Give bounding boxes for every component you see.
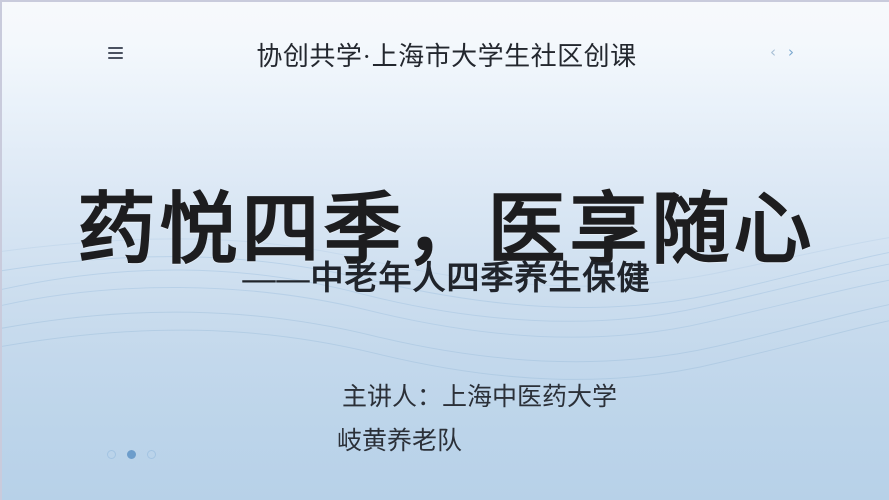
presenter-line-1: 主讲人：上海中医药大学: [342, 384, 617, 411]
chevron-left-icon[interactable]: ‹: [769, 45, 777, 60]
pagination-dots: [107, 450, 156, 459]
slide-top-bar: 协创共学·上海市大学生社区创课 ‹ ›: [2, 2, 889, 102]
pagination-dot-3[interactable]: [147, 450, 156, 459]
pagination-dot-2[interactable]: [127, 450, 136, 459]
chevron-right-icon[interactable]: ›: [787, 45, 795, 60]
presentation-slide-viewport: 协创共学·上海市大学生社区创课 ‹ › 药悦四季，医享随心 ——中老年人四季养生…: [0, 0, 889, 500]
slide-subtitle: ——中老年人四季养生保健: [2, 257, 889, 301]
deck-title: 协创共学·上海市大学生社区创课: [2, 40, 889, 74]
presenter-block: 主讲人：上海中医药大学 岐黄养老队: [342, 376, 742, 464]
presenter-line-2: 岐黄养老队: [337, 420, 742, 464]
pagination-dot-1[interactable]: [107, 450, 116, 459]
slide-navigation: ‹ ›: [769, 40, 795, 64]
